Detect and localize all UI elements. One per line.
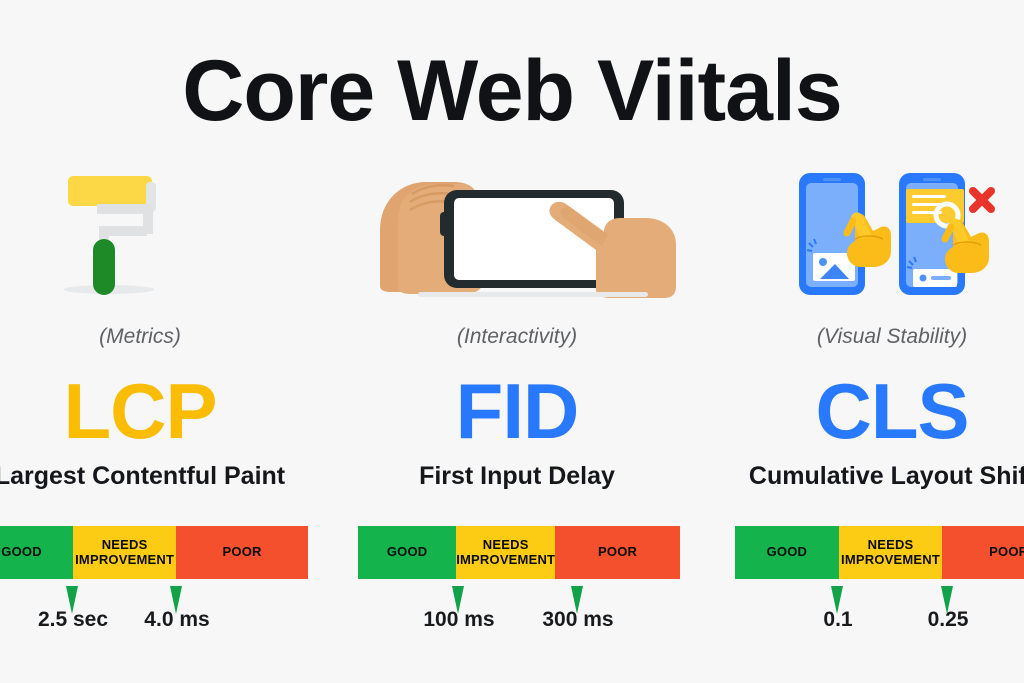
needs-line1: NEEDS [868, 537, 914, 552]
close-icon [973, 191, 991, 209]
metrics-columns: (Metrics) LCP Largest Contentful Paint G… [0, 0, 1024, 683]
metric-icon-lcp [0, 160, 311, 310]
needs-line1: NEEDS [102, 537, 148, 552]
bar-segment-good: GOOD [735, 526, 839, 579]
threshold-bar-lcp: GOOD NEEDSIMPROVEMENT POOR [0, 526, 308, 579]
threshold-bar-fid: GOOD NEEDSIMPROVEMENT POOR [358, 526, 680, 579]
roller-head [68, 176, 152, 206]
threshold-value-cls-2: 0.25 [928, 608, 969, 632]
bar-segment-good: GOOD [0, 526, 73, 579]
needs-line2: IMPROVEMENT [456, 552, 555, 567]
metric-subtitle-cls: (Visual Stability) [721, 325, 1024, 349]
bar-segment-needs-improvement: NEEDSIMPROVEMENT [73, 526, 176, 579]
needs-line2: IMPROVEMENT [75, 552, 174, 567]
metric-column-lcp: (Metrics) LCP Largest Contentful Paint G… [0, 0, 311, 683]
metric-column-fid: (Interactivity) FID First Input Delay GO… [346, 0, 688, 683]
bar-segment-needs-improvement: NEEDSIMPROVEMENT [839, 526, 943, 579]
layout-shift-phones-icon [721, 160, 1024, 310]
bar-segment-poor: POOR [176, 526, 308, 579]
hand-tapping-phone-icon [346, 160, 688, 310]
metric-acronym-lcp: LCP [0, 372, 311, 450]
threshold-value-lcp-1: 2.5 sec [38, 608, 108, 632]
metric-fullname-lcp: Largest Contentful Paint [0, 462, 311, 491]
metric-acronym-fid: FID [346, 372, 688, 450]
paint-roller-icon [0, 160, 311, 310]
layout-shift-phones-svg [795, 165, 1005, 305]
threshold-value-cls-1: 0.1 [823, 608, 852, 632]
threshold-value-fid-1: 100 ms [423, 608, 494, 632]
metric-icon-cls [721, 160, 1024, 310]
roller-grip [93, 239, 115, 295]
bar-segment-needs-improvement: NEEDSIMPROVEMENT [456, 526, 555, 579]
hand-tapping-phone-svg [358, 168, 678, 298]
metric-subtitle-lcp: (Metrics) [0, 325, 311, 349]
threshold-bar-cls: GOOD NEEDSIMPROVEMENT POOR [735, 526, 1024, 579]
threshold-value-lcp-2: 4.0 ms [144, 608, 209, 632]
metric-acronym-cls: CLS [721, 372, 1024, 450]
metric-icon-fid [346, 160, 688, 310]
metric-fullname-fid: First Input Delay [346, 462, 688, 491]
bar-segment-poor: POOR [555, 526, 680, 579]
needs-line2: IMPROVEMENT [841, 552, 940, 567]
needs-line1: NEEDS [483, 537, 529, 552]
bar-segment-good: GOOD [358, 526, 456, 579]
metric-subtitle-fid: (Interactivity) [346, 325, 688, 349]
metric-fullname-cls: Cumulative Layout Shift [721, 462, 1024, 491]
bar-segment-poor: POOR [942, 526, 1024, 579]
metric-column-cls: (Visual Stability) CLS Cumulative Layout… [721, 0, 1024, 683]
threshold-value-fid-2: 300 ms [542, 608, 613, 632]
